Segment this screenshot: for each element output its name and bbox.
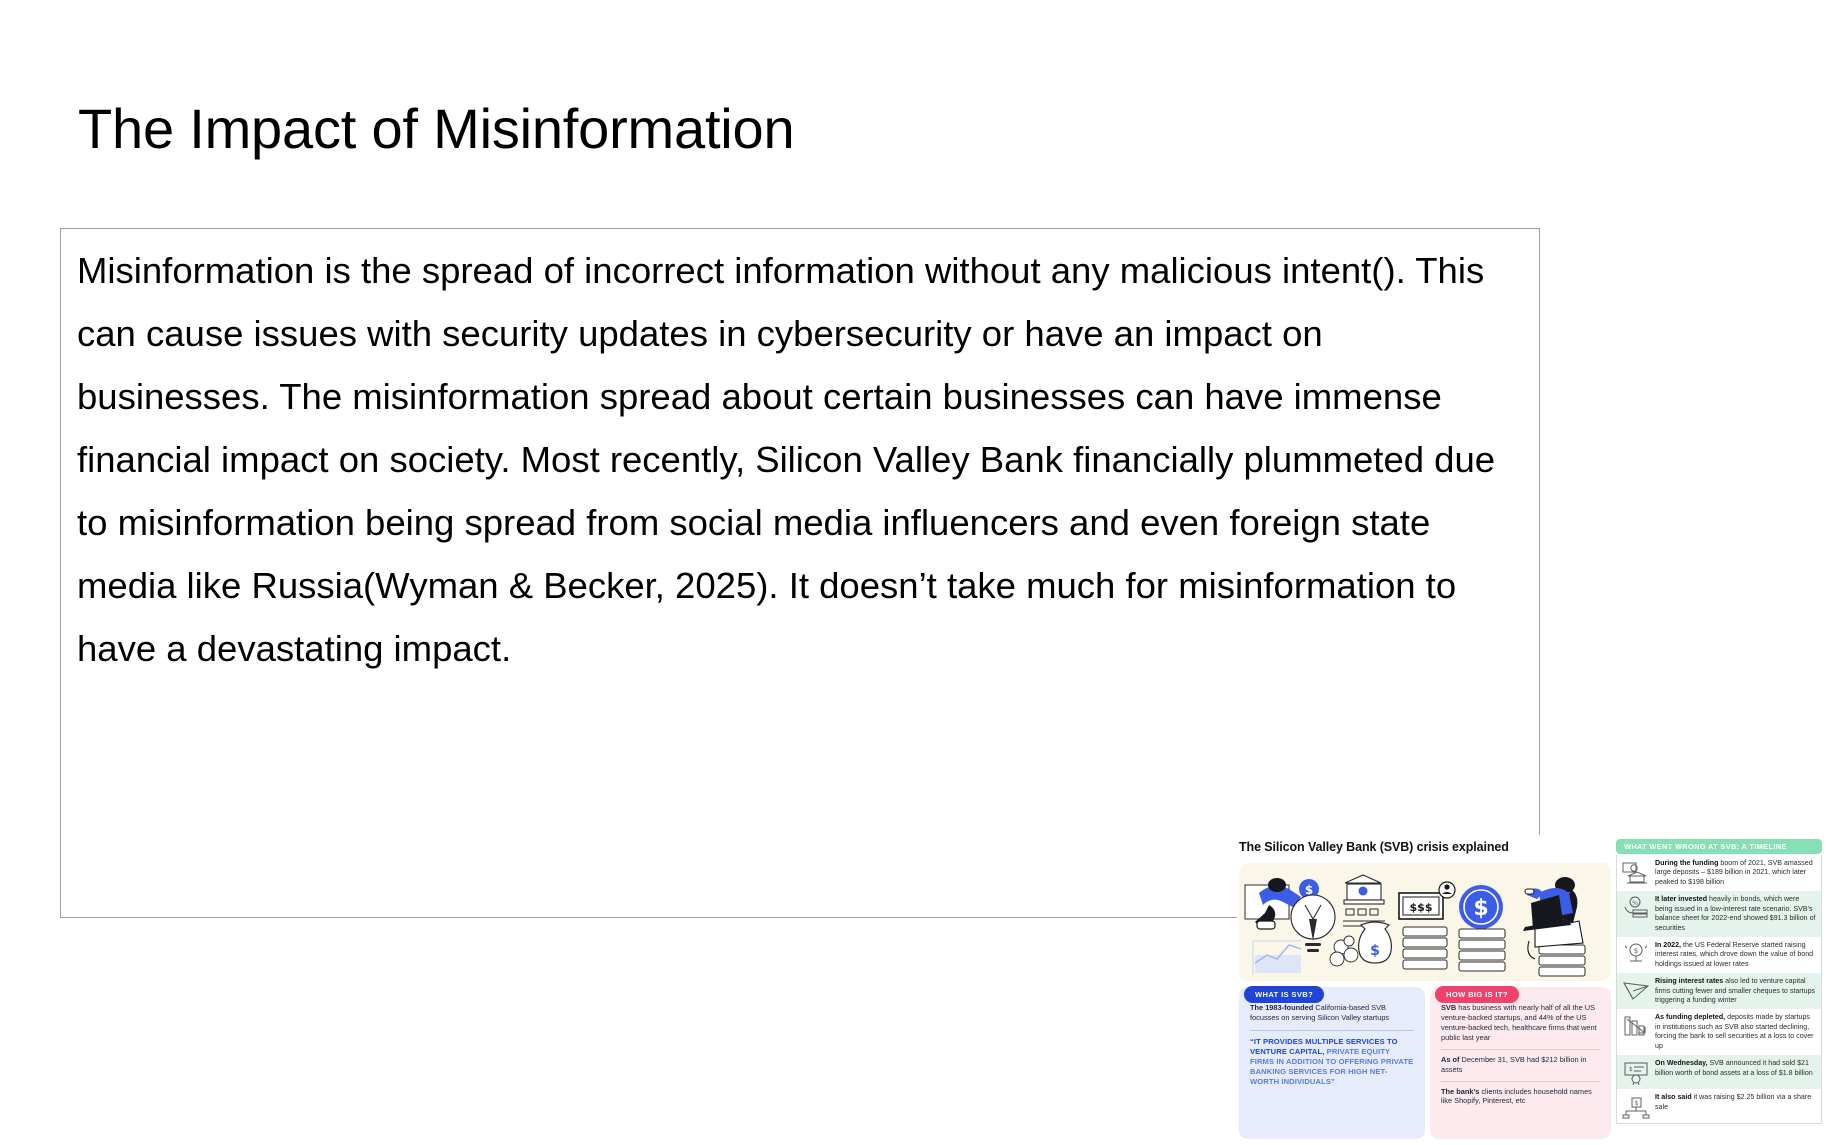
body-paragraph-text: Misinformation is the spread of incorrec… <box>77 239 1522 680</box>
svg-text:$$$: $$$ <box>1410 901 1433 914</box>
page-title: The Impact of Misinformation <box>78 94 794 164</box>
timeline-list: During the funding boom of 2021, SVB ama… <box>1616 855 1822 1124</box>
panel-timeline: WHAT WENT WRONG AT SVB: A TIMELINE Durin… <box>1616 839 1822 1139</box>
timeline-header: WHAT WENT WRONG AT SVB: A TIMELINE <box>1616 839 1822 853</box>
what-is-svb-paragraph-lead: The 1983-founded <box>1250 1003 1313 1012</box>
body-paragraph: Misinformation is the spread of incorrec… <box>77 239 1522 680</box>
timeline-item-text: It also said it was raising $2.25 billio… <box>1655 1093 1816 1112</box>
declining-bars-icon <box>1621 1013 1651 1039</box>
timeline-tag: WHAT WENT WRONG AT SVB: A TIMELINE <box>1616 839 1822 854</box>
divider <box>1250 1030 1414 1031</box>
timeline-item: As funding depleted, deposits made by st… <box>1617 1009 1821 1055</box>
paper-plane-down-icon <box>1621 977 1651 1003</box>
how-big-is-it-tag: HOW BIG IS IT? <box>1435 986 1519 1003</box>
timeline-item: Rising interest rates also led to ventur… <box>1617 973 1821 1009</box>
timeline-item-lead: On Wednesday, <box>1655 1059 1708 1067</box>
money-bank-icon <box>1621 859 1651 885</box>
timeline-item-text: Rising interest rates also led to ventur… <box>1655 977 1816 1005</box>
interest-rate-icon: $ <box>1621 941 1651 967</box>
infographic-title: The Silicon Valley Bank (SVB) crisis exp… <box>1239 839 1599 855</box>
how-big-item: The bank's clients includes household na… <box>1441 1087 1600 1107</box>
what-is-svb-paragraph: The 1983-founded California-based SVB fo… <box>1250 1003 1414 1023</box>
svg-text:$: $ <box>1629 1066 1633 1073</box>
how-big-item: SVB has business with nearly half of all… <box>1441 1003 1600 1043</box>
timeline-item-lead: In 2022, <box>1655 941 1681 949</box>
svg-text:$: $ <box>1370 943 1380 959</box>
timeline-item: During the funding boom of 2021, SVB ama… <box>1617 855 1821 891</box>
timeline-item-lead: It also said <box>1655 1093 1692 1101</box>
timeline-item: % It later invested heavily in bonds, wh… <box>1617 891 1821 937</box>
timeline-item-text: As funding depleted, deposits made by st… <box>1655 1013 1816 1051</box>
how-big-item: As of December 31, SVB had $212 billion … <box>1441 1055 1600 1075</box>
how-big-item-rest: has business with nearly half of all the… <box>1441 1003 1597 1042</box>
how-big-item-lead: SVB <box>1441 1003 1456 1012</box>
timeline-item-lead: It later invested <box>1655 895 1707 903</box>
slide: The Impact of Misinformation Misinformat… <box>0 0 1826 1026</box>
timeline-item-text: During the funding boom of 2021, SVB ama… <box>1655 859 1816 887</box>
timeline-item-lead: As funding depleted, <box>1655 1013 1725 1021</box>
svg-text:$: $ <box>1634 947 1638 955</box>
svb-infographic: The Silicon Valley Bank (SVB) crisis exp… <box>1237 835 1825 1145</box>
timeline-item: $ It also said it was raising $2.25 bill… <box>1617 1089 1821 1123</box>
timeline-item-text: In 2022, the US Federal Reserve started … <box>1655 941 1816 969</box>
divider <box>1441 1049 1600 1050</box>
svg-text:$: $ <box>1635 1100 1639 1107</box>
svg-text:%: % <box>1632 900 1638 907</box>
panel-how-big-is-it: HOW BIG IS IT? SVB has business with nea… <box>1430 987 1611 1139</box>
percent-coins-icon: % <box>1621 895 1651 921</box>
divider <box>1441 1081 1600 1082</box>
bond-certificate-icon: $ <box>1621 1059 1651 1085</box>
what-is-svb-tag: WHAT IS SVB? <box>1244 986 1324 1003</box>
panel-what-is-svb: WHAT IS SVB? The 1983-founded California… <box>1239 987 1425 1139</box>
how-big-item-lead: As of <box>1441 1055 1459 1064</box>
timeline-item: $ In 2022, the US Federal Reserve starte… <box>1617 937 1821 973</box>
svg-text:$: $ <box>1473 896 1488 921</box>
timeline-item-lead: Rising interest rates <box>1655 977 1723 985</box>
what-is-svb-quote: “IT PROVIDES MULTIPLE SERVICES TO VENTUR… <box>1250 1037 1414 1087</box>
timeline-item: $ On Wednesday, SVB announced it had sol… <box>1617 1055 1821 1089</box>
svb-finance-illustration: $ <box>1239 863 1611 981</box>
how-big-item-rest: December 31, SVB had $212 billion in ass… <box>1441 1055 1586 1074</box>
how-big-item-lead: The bank's <box>1441 1087 1479 1096</box>
content-text-box[interactable]: Misinformation is the spread of incorrec… <box>60 228 1540 918</box>
timeline-item-text: On Wednesday, SVB announced it had sold … <box>1655 1059 1816 1078</box>
timeline-item-text: It later invested heavily in bonds, whic… <box>1655 895 1816 933</box>
timeline-item-lead: During the funding <box>1655 859 1718 867</box>
share-sale-icon: $ <box>1621 1093 1651 1119</box>
